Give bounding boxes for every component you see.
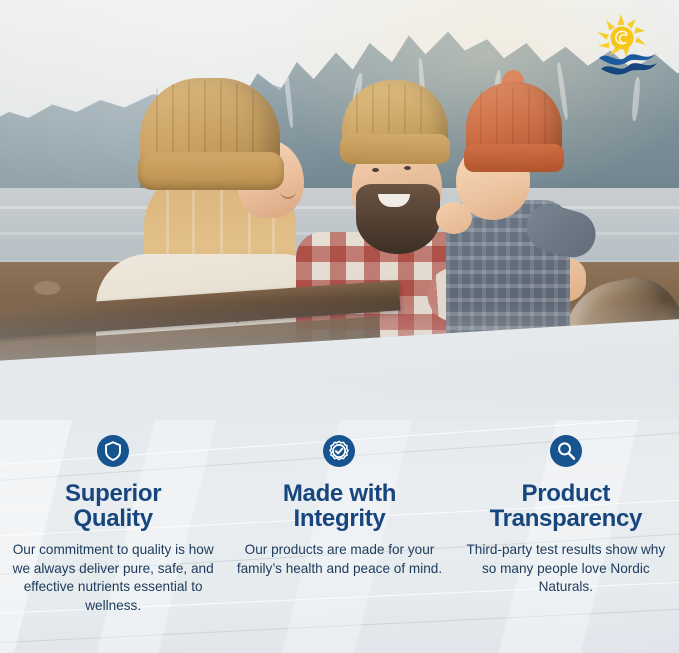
feature-title: Made with Integrity (283, 481, 396, 532)
feature-body: Our commitment to quality is how we alwa… (10, 541, 216, 616)
hero-photo (0, 0, 679, 470)
logo-sun-disc (611, 27, 634, 50)
verified-badge-check-icon (323, 435, 355, 467)
feature-title-line2: Transparency (490, 505, 642, 532)
nordic-naturals-logo[interactable] (591, 12, 663, 78)
magnifying-glass-icon (550, 435, 582, 467)
feature-title: Product Transparency (490, 481, 642, 532)
feature-superior-quality: Superior Quality Our commitment to quali… (0, 435, 226, 616)
logo-waves (599, 54, 657, 75)
shield-icon (97, 435, 129, 467)
feature-title-line1: Superior (65, 480, 161, 507)
feature-title-line1: Product (522, 480, 611, 507)
feature-body: Third-party test results show why so man… (463, 541, 669, 597)
feature-title-line2: Integrity (293, 505, 385, 532)
brand-banner: Superior Quality Our commitment to quali… (0, 0, 679, 653)
feature-made-with-integrity: Made with Integrity Our products are mad… (226, 435, 452, 578)
woman-beanie-brim (138, 152, 284, 190)
feature-title: Superior Quality (65, 481, 161, 532)
feature-title-line1: Made with (283, 480, 396, 507)
feature-columns: Superior Quality Our commitment to quali… (0, 435, 679, 616)
baby-beanie-brim (464, 144, 564, 172)
man-beanie-brim (340, 134, 450, 164)
feature-title-line2: Quality (74, 505, 153, 532)
feature-product-transparency: Product Transparency Third-party test re… (453, 435, 679, 597)
feature-body: Our products are made for your family’s … (236, 541, 442, 579)
